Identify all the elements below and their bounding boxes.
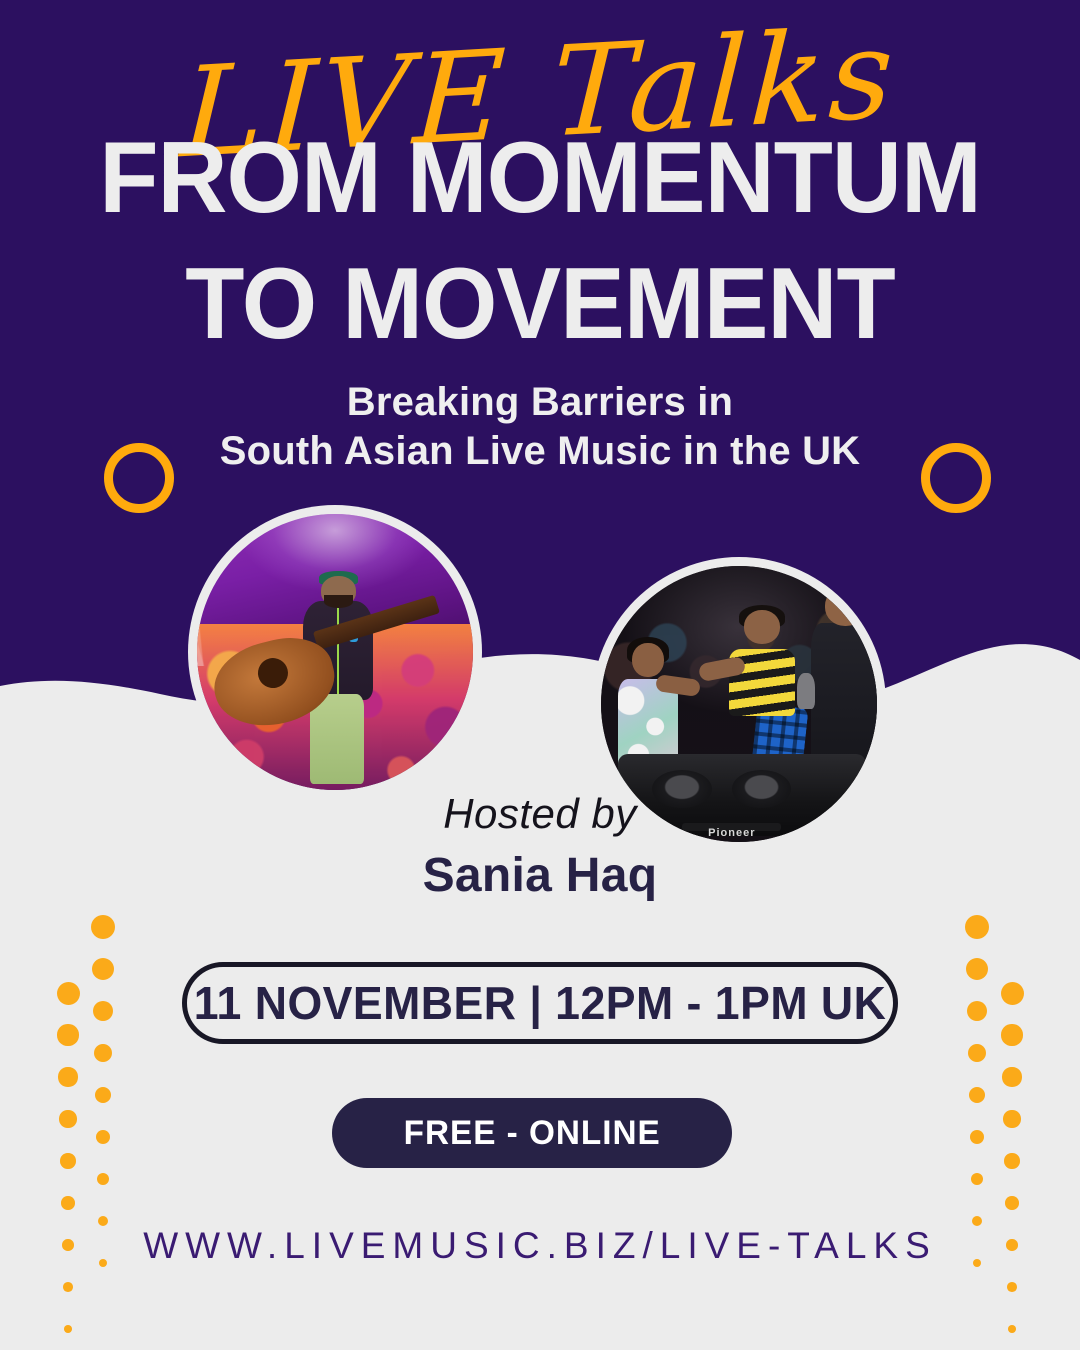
headline-line-2: TO MOVEMENT (22, 258, 1059, 352)
price-badge-text: FREE - ONLINE (403, 1114, 660, 1153)
date-time-pill: 11 NOVEMBER | 12PM - 1PM UK (182, 962, 898, 1044)
decorative-dot (1003, 1110, 1020, 1127)
decorative-dot (1001, 1024, 1022, 1045)
decorative-dot (966, 958, 988, 980)
decorative-dot (967, 1001, 987, 1021)
orange-ring-right-icon (921, 443, 991, 513)
decorative-dot (1008, 1325, 1016, 1333)
decorative-dot (968, 1044, 986, 1062)
date-time-text: 11 NOVEMBER | 12PM - 1PM UK (194, 976, 887, 1030)
price-badge: FREE - ONLINE (332, 1098, 732, 1168)
decorative-dot (970, 1130, 984, 1144)
decorative-dot (1002, 1067, 1021, 1086)
decorative-dot (1004, 1153, 1019, 1168)
decorative-dot (971, 1173, 983, 1185)
orange-ring-left-icon (104, 443, 174, 513)
host-name: Sania Haq (0, 848, 1080, 903)
decorative-dot (1001, 982, 1024, 1005)
headline-line-1: FROM MOMENTUM (22, 132, 1059, 226)
website-url[interactable]: WWW.LIVEMUSIC.BIZ/LIVE-TALKS (0, 1225, 1080, 1267)
decorative-dot (1005, 1196, 1019, 1210)
decorative-dot (965, 915, 989, 939)
photo-guitarist-on-stage (188, 505, 482, 799)
hosted-by-label: Hosted by (0, 790, 1080, 838)
headline-block: LIVE Talks FROM MOMENTUM TO MOVEMENT Bre… (0, 0, 1080, 475)
subtitle-line-1: Breaking Barriers in (0, 378, 1080, 427)
decorative-dot (969, 1087, 985, 1103)
poster-canvas: LIVE Talks FROM MOMENTUM TO MOVEMENT Bre… (0, 0, 1080, 1350)
decorative-dot (1007, 1282, 1017, 1292)
